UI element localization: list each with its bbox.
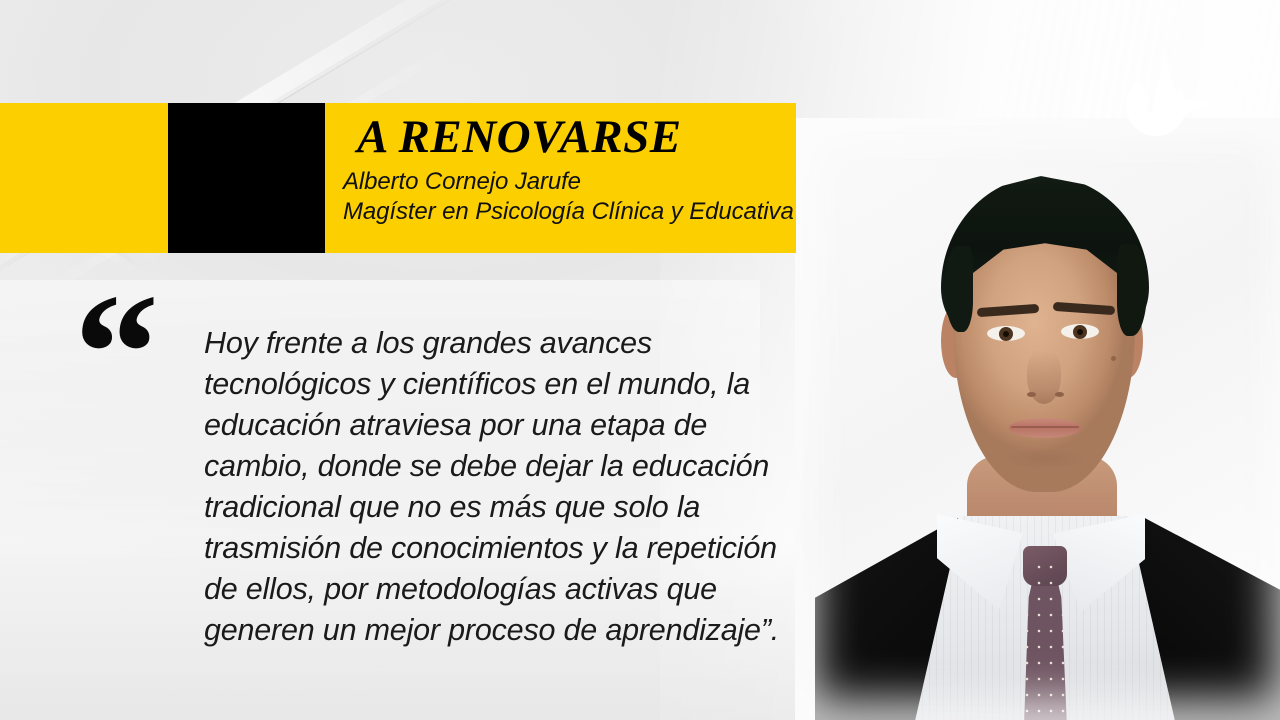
header-banner: A RENOVARSE Alberto Cornejo Jarufe Magís… [0,103,796,253]
open-quote-icon: “ [74,268,159,438]
circular-arrow-logo[interactable] [1097,52,1215,158]
page-title: A RENOVARSE [357,110,682,164]
author-credential: Magíster en Psicología Clínica y Educati… [343,198,794,226]
banner-text-area: A RENOVARSE Alberto Cornejo Jarufe Magís… [325,103,796,253]
author-name: Alberto Cornejo Jarufe [343,168,581,196]
eye-left [987,326,1025,341]
cheek-mole [1111,356,1116,361]
chin-shadow [1001,448,1089,470]
quote-text: Hoy frente a los grandes avances tecnoló… [204,323,804,651]
hair-side-left [945,246,973,332]
portrait-photo [795,118,1280,720]
lip-line [1011,426,1079,428]
iris-left [999,327,1013,341]
banner-black-block [168,103,325,253]
iris-right [1073,325,1087,339]
nostril-right [1055,392,1064,397]
eye-right [1061,324,1099,339]
poster-canvas: A RENOVARSE Alberto Cornejo Jarufe Magís… [0,0,1280,720]
hair-side-right [1117,244,1147,336]
mouth [1009,418,1081,438]
banner-yellow-block-left [0,103,168,253]
nostril-left [1027,392,1036,397]
